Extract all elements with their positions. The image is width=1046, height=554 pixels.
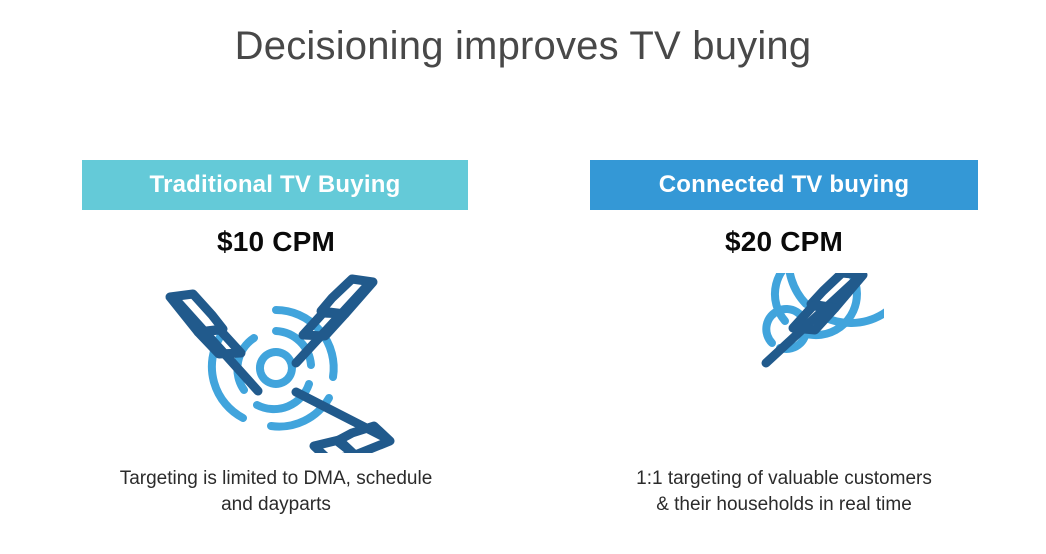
cpm-price-connected: $20 CPM [590,226,978,258]
column-traditional: Traditional TV Buying $10 CPM [82,160,470,517]
column-header-traditional: Traditional TV Buying [82,160,468,210]
caption-traditional: Targeting is limited to DMA, schedule an… [82,466,470,517]
caption-line-2: and dayparts [82,492,470,518]
target-single-arrow-bullseye-icon [684,273,884,453]
caption-line-1: 1:1 targeting of valuable customers [590,466,978,492]
cpm-price-traditional: $10 CPM [82,226,470,258]
comparison-columns: Traditional TV Buying $10 CPM [0,160,1046,554]
caption-connected: 1:1 targeting of valuable customers & th… [590,466,978,517]
target-three-arrows-missing-icon [146,273,406,453]
slide-canvas: Decisioning improves TV buying Tradition… [0,0,1046,554]
column-connected: Connected TV buying $20 CPM [590,160,978,517]
page-title: Decisioning improves TV buying [0,22,1046,70]
icon-connected [590,268,978,458]
caption-line-1: Targeting is limited to DMA, schedule [82,466,470,492]
caption-line-2: & their households in real time [590,492,978,518]
icon-traditional [82,268,470,458]
column-header-connected: Connected TV buying [590,160,978,210]
